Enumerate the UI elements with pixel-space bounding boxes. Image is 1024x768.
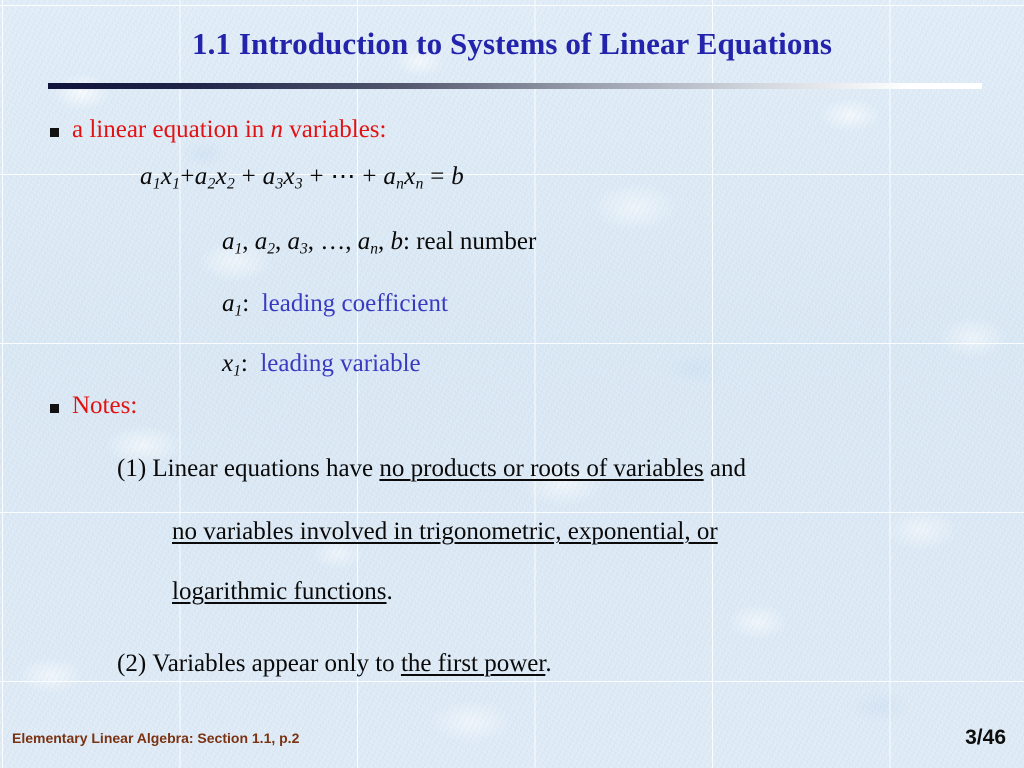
note-1-line1-underlined: no products or roots of variables [379, 455, 703, 482]
note-1-marker: (1) [117, 455, 146, 482]
note-2-line1-text: Variables appear only to [152, 650, 401, 677]
equation-ellipsis: ⋯ [331, 163, 356, 190]
equation-linear: a1x1+a2x2 + a3x3 + ⋯ + anxn = b [140, 163, 464, 193]
bullet-text-before: a linear equation in [72, 116, 271, 143]
note-1-line-2: no variables involved in trigonometric, … [172, 518, 718, 546]
page-number: 3/46 [965, 726, 1006, 750]
bullet-item-linear-equation: a linear equation in n variables: [50, 116, 386, 144]
slide-content: 1.1 Introduction to Systems of Linear Eq… [0, 0, 1024, 768]
bullet-text-italic: n [271, 116, 284, 143]
label-leading-variable: leading variable [260, 350, 420, 377]
real-number-label: : real number [403, 228, 536, 255]
definition-leading-coefficient: a1: leading coefficient [222, 290, 448, 320]
equation-plus-1: + [180, 163, 194, 190]
colon-leading-coefficient: : [242, 290, 249, 317]
note-1-line2-underlined: no variables involved in trigonometric, … [172, 518, 718, 545]
note-1-line1-text: Linear equations have [152, 455, 379, 482]
note-1-line3-underlined: logarithmic functions [172, 578, 387, 605]
title-divider-rule [48, 83, 982, 89]
equation-plus-2: + [242, 163, 256, 190]
square-bullet-icon [50, 128, 59, 137]
definition-leading-variable: x1: leading variable [222, 350, 421, 380]
colon-leading-variable: : [241, 350, 248, 377]
equation-plus-4: + [362, 163, 376, 190]
equation-equals: = [430, 163, 444, 190]
note-1-line1-post: and [704, 455, 746, 482]
note-1-line-1: (1) Linear equations have no products or… [117, 455, 746, 483]
page-title: 1.1 Introduction to Systems of Linear Eq… [0, 26, 1024, 62]
definition-real-numbers: a1, a2, a3, …, an, b: real number [222, 228, 536, 258]
slide-canvas: 1.1 Introduction to Systems of Linear Eq… [0, 0, 1024, 768]
symbol-an: an [358, 228, 378, 255]
equation-plus-3: + [310, 163, 324, 190]
symbol-x1-leading: x1 [222, 350, 241, 377]
symbol-b: b [391, 228, 404, 255]
equation-term-2: a2x2 [195, 163, 235, 190]
bullet-label-notes: Notes: [72, 392, 137, 420]
equation-term-n: anxn [383, 163, 423, 190]
label-leading-coefficient: leading coefficient [262, 290, 448, 317]
equation-term-3: a3x3 [263, 163, 303, 190]
note-2-line-1: (2) Variables appear only to the first p… [117, 650, 552, 678]
bullet-label-linear-equation: a linear equation in n variables: [72, 116, 386, 144]
equation-rhs: b [451, 163, 464, 190]
symbol-a1: a1 [222, 228, 242, 255]
note-2-marker: (2) [117, 650, 146, 677]
symbol-a2: a2 [255, 228, 275, 255]
bullet-item-notes: Notes: [50, 392, 137, 420]
symbol-a3: a3 [288, 228, 308, 255]
note-2-line1-post: . [545, 650, 551, 677]
note-1-line-3: logarithmic functions. [172, 578, 393, 606]
square-bullet-icon [50, 404, 59, 413]
symbol-a1-leading: a1 [222, 290, 242, 317]
note-1-line3-post: . [387, 578, 393, 605]
symbol-ellipsis: … [320, 228, 345, 255]
footer-source-label: Elementary Linear Algebra: Section 1.1, … [12, 730, 299, 746]
equation-term-1: a1x1 [140, 163, 180, 190]
note-2-line1-underlined: the first power [401, 650, 545, 677]
bullet-text-after: variables: [283, 116, 386, 143]
